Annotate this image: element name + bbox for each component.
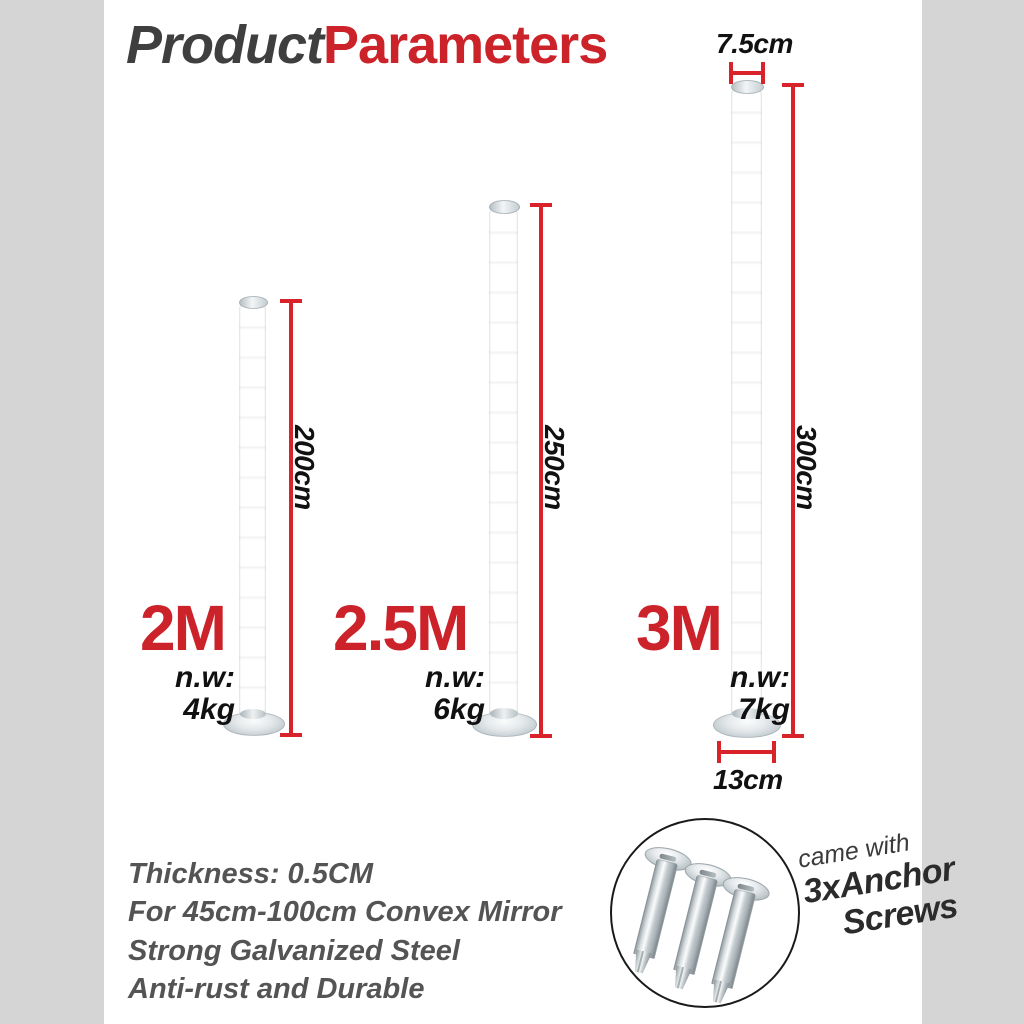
dim-cap-bottom bbox=[782, 734, 804, 738]
feature-list: Thickness: 0.5CM For 45cm-100cm Convex M… bbox=[128, 855, 562, 1008]
dimension-line-13cm bbox=[717, 750, 776, 754]
net-weight-3m-value: 7kg bbox=[645, 694, 790, 726]
screw-body bbox=[633, 859, 678, 959]
dimension-label-250cm: 250cm bbox=[538, 425, 570, 510]
net-weight-25m-prefix: n.w: bbox=[340, 662, 485, 694]
dim-cap-right bbox=[772, 741, 776, 763]
net-weight-3m-prefix: n.w: bbox=[645, 662, 790, 694]
pole-25m-shaft bbox=[489, 205, 518, 720]
dim-cap-top bbox=[782, 83, 804, 87]
product-parameters-infographic: ProductParameters 200cm 2M n.w: 4kg 250c… bbox=[0, 0, 1024, 1024]
feature-durability: Anti-rust and Durable bbox=[128, 970, 562, 1008]
net-weight-2m-prefix: n.w: bbox=[90, 662, 235, 694]
dimension-line-7_5cm bbox=[729, 71, 765, 75]
dim-cap-bottom bbox=[280, 733, 302, 737]
dim-cap-left bbox=[729, 62, 733, 84]
title-word-product: Product bbox=[126, 15, 323, 75]
dimension-line-200cm bbox=[289, 299, 293, 737]
dim-cap-top bbox=[530, 203, 552, 207]
dimension-line-300cm bbox=[791, 83, 795, 738]
left-gray-band bbox=[0, 0, 104, 1024]
size-label-3m: 3M bbox=[636, 598, 721, 659]
dimension-label-13cm: 13cm bbox=[713, 764, 783, 796]
net-weight-25m-value: 6kg bbox=[340, 694, 485, 726]
pole-2m-base-collar bbox=[240, 709, 266, 719]
title-word-parameters: Parameters bbox=[323, 15, 607, 75]
dimension-label-200cm: 200cm bbox=[288, 425, 320, 510]
feature-mirror-size: For 45cm-100cm Convex Mirror bbox=[128, 893, 562, 931]
dimension-label-7_5cm: 7.5cm bbox=[716, 28, 793, 60]
dimension-label-300cm: 300cm bbox=[790, 425, 822, 510]
dim-cap-right bbox=[761, 62, 765, 84]
feature-thickness: Thickness: 0.5CM bbox=[128, 855, 562, 893]
net-weight-2m-value: 4kg bbox=[90, 694, 235, 726]
pole-2m-top-cap bbox=[239, 296, 268, 309]
page-title: ProductParameters bbox=[126, 14, 607, 76]
pole-3m-shaft bbox=[731, 85, 762, 720]
dim-cap-bottom bbox=[530, 734, 552, 738]
pole-25m-base-collar bbox=[490, 708, 518, 719]
dim-cap-top bbox=[280, 299, 302, 303]
net-weight-2m: n.w: 4kg bbox=[90, 662, 235, 726]
pole-2m-shaft bbox=[239, 300, 266, 720]
screw-body bbox=[673, 875, 718, 975]
net-weight-25m: n.w: 6kg bbox=[340, 662, 485, 726]
net-weight-3m: n.w: 7kg bbox=[645, 662, 790, 726]
size-label-2m: 2M bbox=[140, 598, 225, 659]
pole-25m-top-cap bbox=[489, 200, 520, 214]
screw-body bbox=[711, 889, 756, 989]
feature-material: Strong Galvanized Steel bbox=[128, 932, 562, 970]
size-label-25m: 2.5M bbox=[333, 598, 467, 659]
dim-cap-left bbox=[717, 741, 721, 763]
pole-3m-top-cap bbox=[731, 80, 764, 94]
anchor-screws-circle bbox=[610, 818, 800, 1008]
